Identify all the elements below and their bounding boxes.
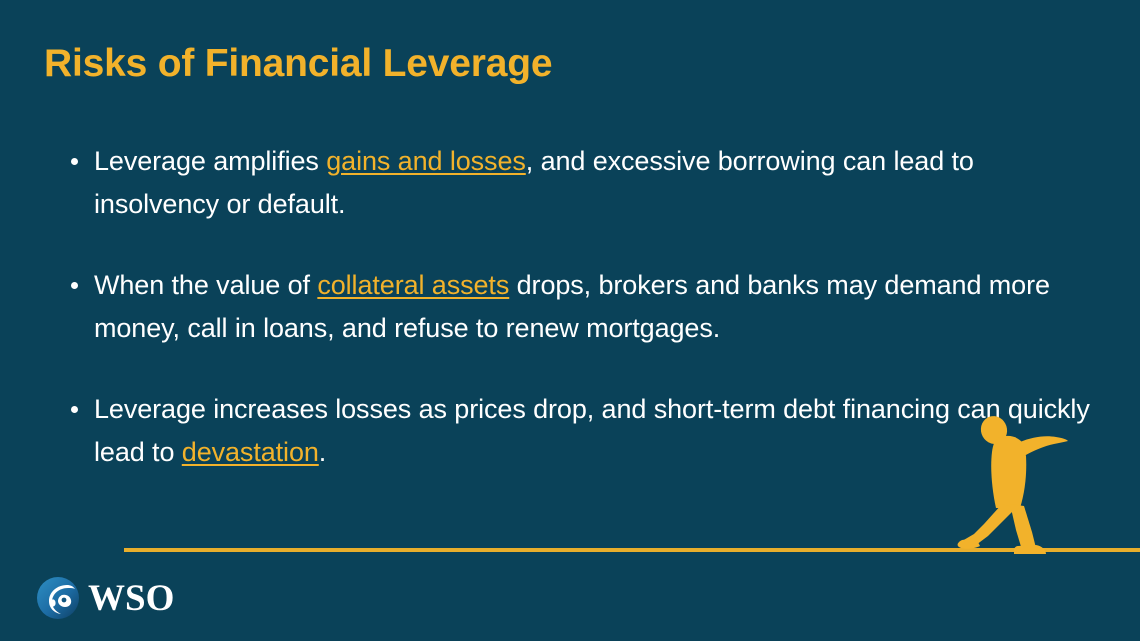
page-title: Risks of Financial Leverage — [44, 42, 552, 86]
bullet-text-1: Leverage amplifies gains and losses, and… — [94, 146, 974, 219]
text-run: . — [319, 437, 326, 467]
text-run: Leverage amplifies — [94, 146, 326, 176]
bullet-item-1: Leverage amplifies gains and losses, and… — [62, 140, 1092, 226]
bullet-dot-icon — [71, 282, 78, 289]
inline-link[interactable]: devastation — [182, 437, 319, 467]
inline-link[interactable]: gains and losses — [326, 146, 526, 176]
wso-logo-text: WSO — [88, 580, 174, 617]
tightrope-walker-icon — [950, 412, 1075, 554]
bullet-item-3: Leverage increases losses as prices drop… — [62, 388, 1092, 474]
bullet-list: Leverage amplifies gains and losses, and… — [62, 140, 1092, 474]
bullet-text-3: Leverage increases losses as prices drop… — [94, 394, 1090, 467]
bullet-text-2: When the value of collateral assets drop… — [94, 270, 1050, 343]
wso-logo: WSO — [36, 576, 174, 620]
bullet-dot-icon — [71, 158, 78, 165]
wso-monkey-emblem-icon — [36, 576, 80, 620]
text-run: When the value of — [94, 270, 317, 300]
slide: Risks of Financial Leverage Leverage amp… — [0, 0, 1140, 641]
bullet-item-2: When the value of collateral assets drop… — [62, 264, 1092, 350]
bullet-dot-icon — [71, 406, 78, 413]
inline-link[interactable]: collateral assets — [317, 270, 509, 300]
